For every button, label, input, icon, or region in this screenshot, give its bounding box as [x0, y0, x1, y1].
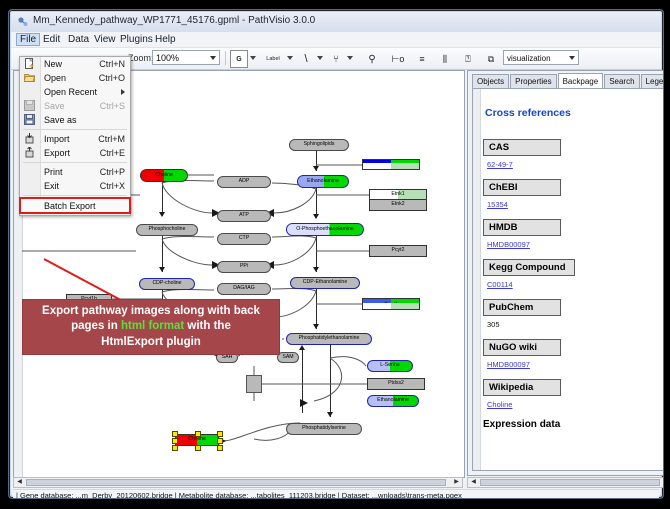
line-dropdown-icon[interactable] [317, 56, 323, 60]
edge-choline-phosphocholine [162, 182, 163, 216]
arrowhead-down [159, 267, 165, 272]
menu-label: Print [44, 167, 63, 177]
tab-backpage[interactable]: Backpage [558, 73, 604, 89]
window-title: Mm_Kennedy_pathway_WP1771_45176.gpml - P… [33, 15, 315, 26]
menu-accel: Ctrl+E [100, 148, 125, 158]
tab-objects[interactable]: Objects [472, 74, 509, 89]
xref-value-link[interactable]: C00114 [487, 280, 664, 289]
zoom-label: Zoom: [128, 53, 154, 63]
anchor-tool-icon[interactable]: ⚲ [363, 50, 381, 68]
hscroll-thumb[interactable] [26, 479, 446, 486]
gene-etnk2[interactable]: Etnk2 [369, 200, 427, 211]
menu-item-save: Save Ctrl+S [20, 99, 130, 113]
zoom-combo[interactable]: 100% [152, 50, 220, 65]
file-menu-dropdown[interactable]: New Ctrl+N Open Ctrl+O Open Recent Save … [19, 56, 131, 216]
scroll-left-icon[interactable]: ◀ [15, 479, 24, 486]
backpage-inner: Cross references CAS 62-49-7 ChEBI 15354… [483, 89, 664, 430]
menu-label: Save as [44, 115, 77, 125]
backpage-content: Cross references CAS 62-49-7 ChEBI 15354… [472, 88, 664, 471]
node-adp[interactable]: ADP [217, 176, 271, 188]
node-ctp[interactable]: CTP [217, 233, 271, 245]
status-text: | Gene database: ...m_Derby_20120602.bri… [16, 491, 462, 499]
xref-db-label: ChEBI [483, 179, 561, 196]
node-o-phosphoethanolamine[interactable]: O-Phosphoethanolamine [286, 223, 364, 236]
window-inner: Mm_Kennedy_pathway_WP1771_45176.gpml - P… [11, 12, 661, 496]
node-ppi[interactable]: PPi [217, 261, 271, 273]
xref-nugo: NuGO wiki HMDB00097 [483, 339, 664, 369]
edge-ptdeth-ptdserine [330, 345, 331, 417]
menu-accel: Ctrl+N [99, 59, 125, 69]
node-sphingolipids[interactable]: Sphingolipids [289, 139, 349, 151]
cross-references-heading: Cross references [485, 107, 664, 119]
menu-separator [23, 162, 127, 163]
title-bar: Mm_Kennedy_pathway_WP1771_45176.gpml - P… [11, 12, 661, 32]
menu-accel: Ctrl+X [100, 181, 125, 191]
menu-label: Save [44, 101, 65, 111]
gene-pcyt2[interactable]: Pcyt2 [369, 245, 427, 257]
menu-label: Import [44, 134, 70, 144]
xref-wikipedia: Wikipedia Choline [483, 379, 664, 409]
align-center-icon[interactable]: ≡ [413, 50, 431, 68]
xref-value-link[interactable]: 15354 [487, 200, 664, 209]
selection-handle[interactable] [195, 445, 201, 451]
menu-help[interactable]: Help [151, 33, 180, 46]
menu-item-print[interactable]: Print Ctrl+P [20, 165, 130, 179]
node-cdp-choline[interactable]: CDP-choline [139, 278, 195, 290]
submenu-arrow-icon [121, 89, 125, 95]
side-panel-tabs: Objects Properties Backpage Search Legen… [472, 74, 664, 89]
node-phosphatidylserine[interactable]: Phosphatidylserine [286, 423, 362, 435]
menu-label: Batch Export [44, 201, 96, 211]
menu-bar: File Edit Data View Plugins Help [11, 32, 661, 48]
xref-db-label: Kegg Compound [483, 259, 575, 276]
backpage-scrollbar[interactable] [473, 89, 481, 470]
selection-handle[interactable] [217, 438, 223, 444]
arrowhead-down [327, 412, 333, 417]
label-tool-icon[interactable]: Label [260, 50, 286, 68]
menu-file[interactable]: File [16, 33, 40, 46]
chevron-down-icon [210, 56, 216, 60]
menu-accel: Ctrl+O [99, 73, 125, 83]
callout-line2-a: pages in [71, 320, 121, 332]
label-dropdown-icon[interactable] [287, 56, 293, 60]
visualization-value: visualization [507, 54, 551, 63]
new-document-icon [24, 58, 35, 69]
gene-dropdown-icon[interactable] [250, 56, 256, 60]
xref-db-label: HMDB [483, 219, 561, 236]
selection-handle[interactable] [172, 431, 178, 437]
node-ethanolamine-top[interactable]: Ethanolamine [297, 175, 349, 188]
side-hscrollbar[interactable]: ◀ ▶ [467, 477, 664, 488]
scroll-right-icon[interactable]: ▶ [452, 479, 461, 486]
gene-cept1-bar [362, 303, 420, 310]
node-l-serine[interactable]: L-Serine [367, 360, 413, 372]
xref-value-link[interactable]: 62-49-7 [487, 160, 664, 169]
align-left-icon[interactable]: ⊢o [389, 50, 407, 68]
menu-item-import[interactable]: Import Ctrl+M [20, 132, 130, 146]
arrowhead-down [313, 166, 319, 171]
pathvisio-app-icon [17, 16, 29, 28]
menu-item-batch-export[interactable]: Batch Export [20, 198, 130, 213]
callout-line2-b: with the [184, 320, 231, 332]
menu-separator [23, 129, 127, 130]
arrowhead-up [299, 345, 305, 350]
arrowhead-down [313, 214, 319, 219]
callout-line1: Export pathway images along with back [42, 305, 260, 317]
selection-handle[interactable] [172, 438, 178, 444]
menu-item-export[interactable]: Export Ctrl+E [20, 146, 130, 160]
scroll-left-icon[interactable]: ◀ [469, 479, 478, 486]
xref-db-label: Wikipedia [483, 379, 561, 396]
selection-handle[interactable] [172, 445, 178, 451]
node-phosphatidylethanolamine[interactable]: Phosphatidylethanolamine [286, 333, 372, 345]
arrowhead-down [313, 267, 319, 272]
group-icon[interactable]: ⧉ [482, 50, 500, 68]
menu-separator [23, 195, 127, 196]
node-ethanolamine-lower[interactable]: Ethanolamine [367, 395, 419, 407]
xref-pubchem: PubChem 305 [483, 299, 664, 329]
xref-db-label: NuGO wiki [483, 339, 561, 356]
side-panel: Objects Properties Backpage Search Legen… [467, 70, 664, 476]
edge-cdpeth-ptdeth [316, 289, 317, 329]
status-bar: | Gene database: ...m_Derby_20120602.bri… [13, 489, 659, 499]
node-sam[interactable]: SAM [277, 352, 299, 363]
save-as-icon [24, 114, 35, 125]
xref-kegg: Kegg Compound C00114 [483, 259, 664, 289]
folder-open-icon [24, 72, 35, 83]
menu-label: Open Recent [44, 87, 97, 97]
canvas-hscrollbar[interactable]: ◀ ▶ [13, 477, 463, 488]
menu-accel: Ctrl+S [100, 101, 125, 111]
callout-banner: Export pathway images along with back pa… [22, 299, 280, 355]
menu-label: Exit [44, 181, 59, 191]
interaction-tool-icon[interactable]: ⑂ [327, 50, 345, 68]
callout-line2-highlight: html format [121, 320, 184, 332]
expression-data-heading: Expression data [483, 419, 664, 430]
node-choline[interactable]: Choline [140, 169, 188, 182]
edge-ptdserine-ptdeth [302, 347, 303, 413]
xref-cas: CAS 62-49-7 [483, 139, 664, 169]
menu-edit[interactable]: Edit [39, 33, 64, 46]
node-atp[interactable]: ATP [217, 210, 271, 222]
node-cdp-ethanolamine[interactable]: CDP-Ethanolamine [290, 277, 360, 289]
xref-hmdb: HMDB HMDB00097 [483, 219, 664, 249]
xref-db-label: PubChem [483, 299, 561, 316]
menu-label: New [44, 59, 62, 69]
menu-item-save-as[interactable]: Save as [20, 113, 130, 127]
xref-value-link[interactable]: HMDB00097 [487, 240, 664, 249]
menu-item-open[interactable]: Open Ctrl+O [20, 71, 130, 85]
xref-value-link[interactable]: HMDB00097 [487, 360, 664, 369]
visualization-combo[interactable]: visualization [503, 50, 579, 65]
menu-item-new[interactable]: New Ctrl+N [20, 57, 130, 71]
menu-label: Export [44, 148, 70, 158]
screenshot-root: Mm_Kennedy_pathway_WP1771_45176.gpml - P… [0, 0, 670, 509]
selection-handle[interactable] [217, 445, 223, 451]
node-dag-iag[interactable]: DAG/IAG [217, 283, 271, 295]
tab-legend[interactable]: Legend [641, 74, 664, 89]
chevron-down-icon [569, 56, 575, 60]
gene-sgpl1-bar [362, 163, 420, 170]
application-window: Mm_Kennedy_pathway_WP1771_45176.gpml - P… [8, 9, 664, 499]
import-icon [24, 133, 35, 144]
zoom-value: 100% [156, 53, 179, 63]
selection-handle[interactable] [195, 431, 201, 437]
save-icon [24, 100, 35, 111]
tab-properties[interactable]: Properties [510, 74, 556, 89]
pathway-state-box[interactable] [246, 375, 262, 393]
side-hscroll-thumb[interactable] [480, 479, 660, 486]
callout-line3: HtmlExport plugin [101, 336, 201, 348]
menu-accel: Ctrl+M [98, 134, 125, 144]
stack-icon[interactable]: ⍰ [459, 50, 477, 68]
menu-data[interactable]: Data [64, 33, 93, 46]
line-tool-icon[interactable]: \ [297, 50, 315, 68]
menu-label: Open [44, 73, 66, 83]
xref-value-text: 305 [487, 320, 664, 329]
menu-item-exit[interactable]: Exit Ctrl+X [20, 179, 130, 193]
xref-value-link[interactable]: Choline [487, 400, 664, 409]
menu-item-open-recent[interactable]: Open Recent [20, 85, 130, 99]
node-phosphocholine[interactable]: Phosphocholine [136, 224, 198, 236]
arrowhead-down [313, 324, 319, 329]
interaction-dropdown-icon[interactable] [347, 56, 353, 60]
gene-ptdss2[interactable]: Ptdss2 [367, 378, 425, 390]
selection-handle[interactable] [217, 431, 223, 437]
xref-chebi: ChEBI 15354 [483, 179, 664, 209]
arrowhead-down [159, 212, 165, 217]
export-icon [24, 147, 35, 158]
gene-etnk1[interactable]: Etnk1 [369, 189, 427, 200]
xref-db-label: CAS [483, 139, 561, 156]
tab-search[interactable]: Search [604, 74, 639, 89]
menu-accel: Ctrl+P [100, 167, 125, 177]
gene-product-icon[interactable]: G [230, 50, 248, 68]
distribute-icon[interactable]: ⫼ [436, 50, 454, 68]
toolbar-separator [225, 51, 226, 65]
